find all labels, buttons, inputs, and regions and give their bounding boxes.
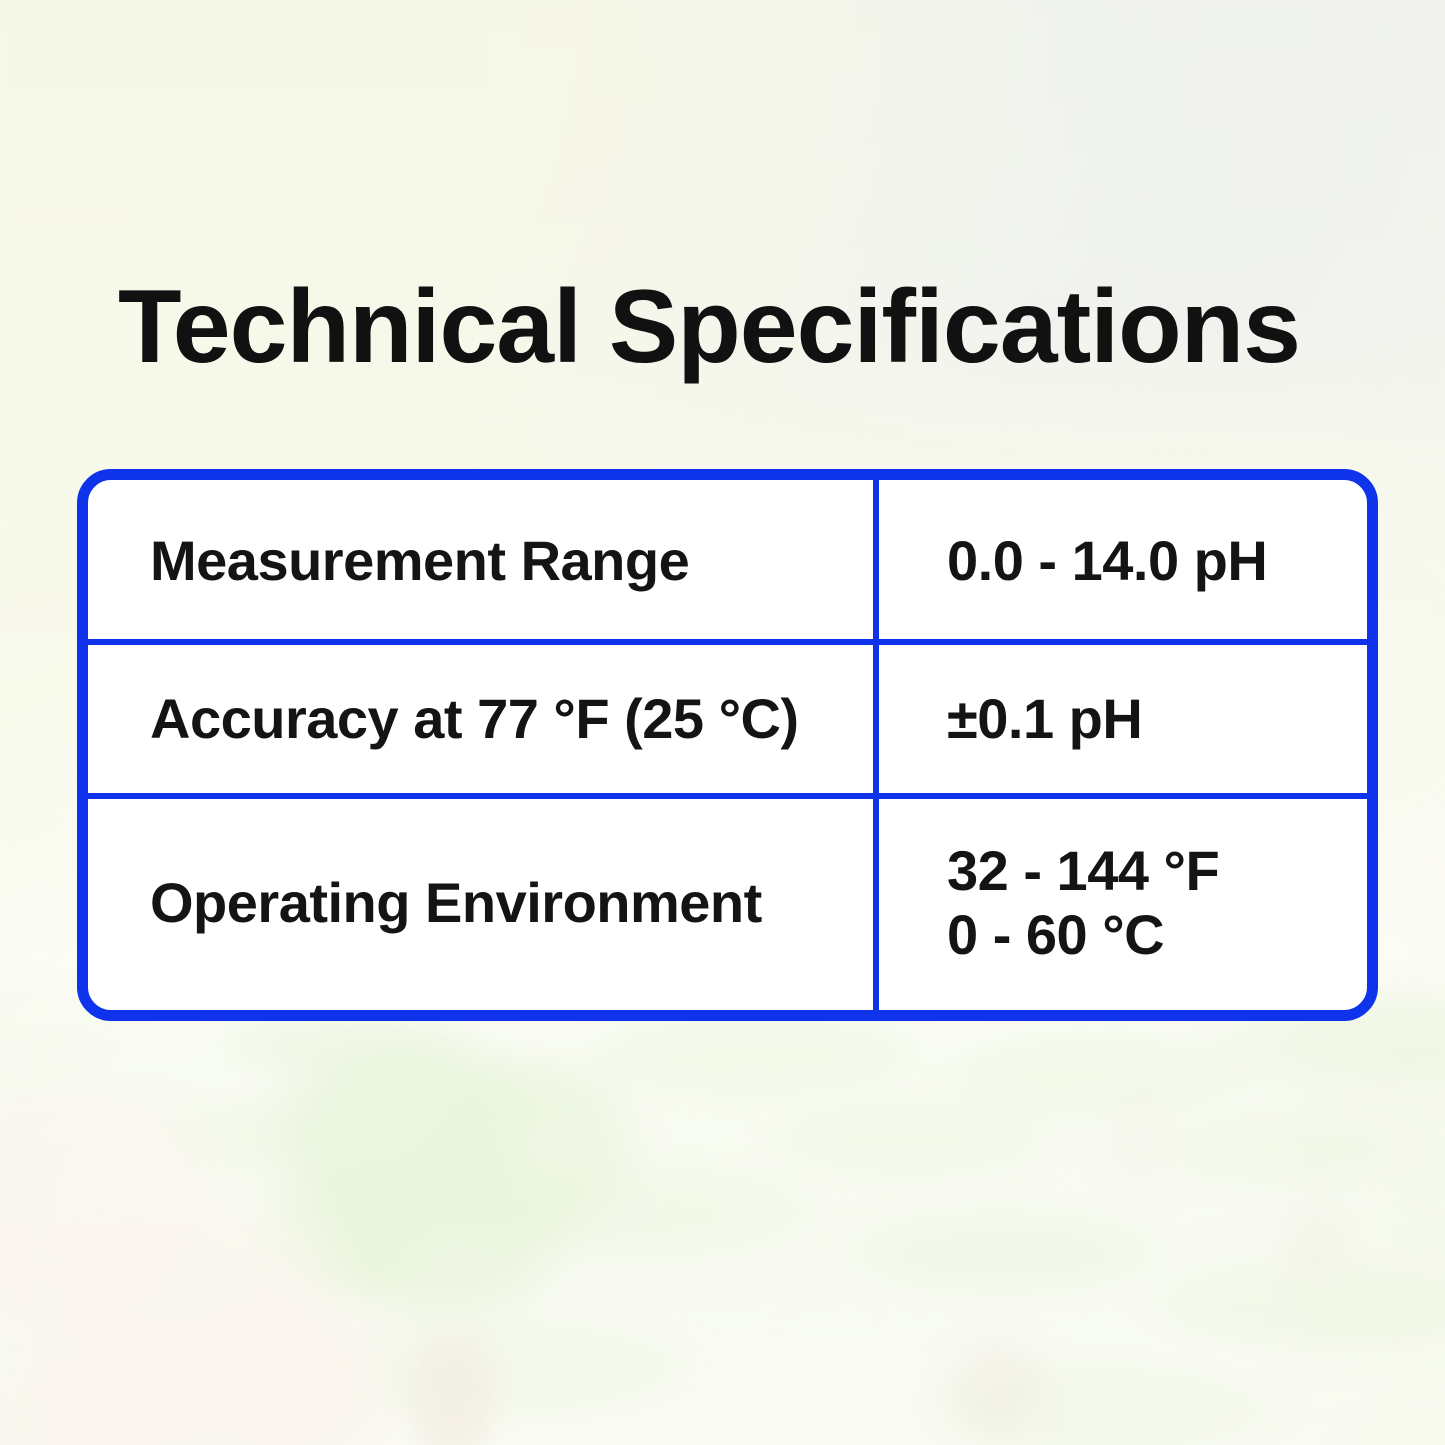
spec-label-accuracy: Accuracy at 77 °F (25 °C): [88, 642, 873, 796]
spec-value-operating-environment: 32 - 144 °F 0 - 60 °C: [879, 796, 1367, 1010]
spec-label-operating-environment: Operating Environment: [88, 796, 873, 1010]
spec-value-group: 32 - 144 °F 0 - 60 °C: [947, 839, 1219, 967]
spec-value-line: 0.0 - 14.0 pH: [947, 529, 1267, 593]
content-layer: Technical Specifications Measurement Ran…: [0, 0, 1445, 1445]
spec-value-line-celsius: 0 - 60 °C: [947, 903, 1219, 967]
spec-value-line: ±0.1 pH: [947, 687, 1142, 751]
table-row: Measurement Range 0.0 - 14.0 pH: [88, 480, 1367, 642]
table-row: Operating Environment 32 - 144 °F 0 - 60…: [88, 796, 1367, 1010]
spec-value-line-fahrenheit: 32 - 144 °F: [947, 839, 1219, 903]
page-title: Technical Specifications: [118, 272, 1338, 382]
spec-value-accuracy: ±0.1 pH: [879, 642, 1367, 796]
spec-label-measurement-range: Measurement Range: [88, 480, 873, 642]
spec-value-measurement-range: 0.0 - 14.0 pH: [879, 480, 1367, 642]
table-row: Accuracy at 77 °F (25 °C) ±0.1 pH: [88, 642, 1367, 796]
product-spec-card: Technical Specifications Measurement Ran…: [0, 0, 1445, 1445]
specifications-table: Measurement Range 0.0 - 14.0 pH Accuracy…: [77, 469, 1378, 1021]
